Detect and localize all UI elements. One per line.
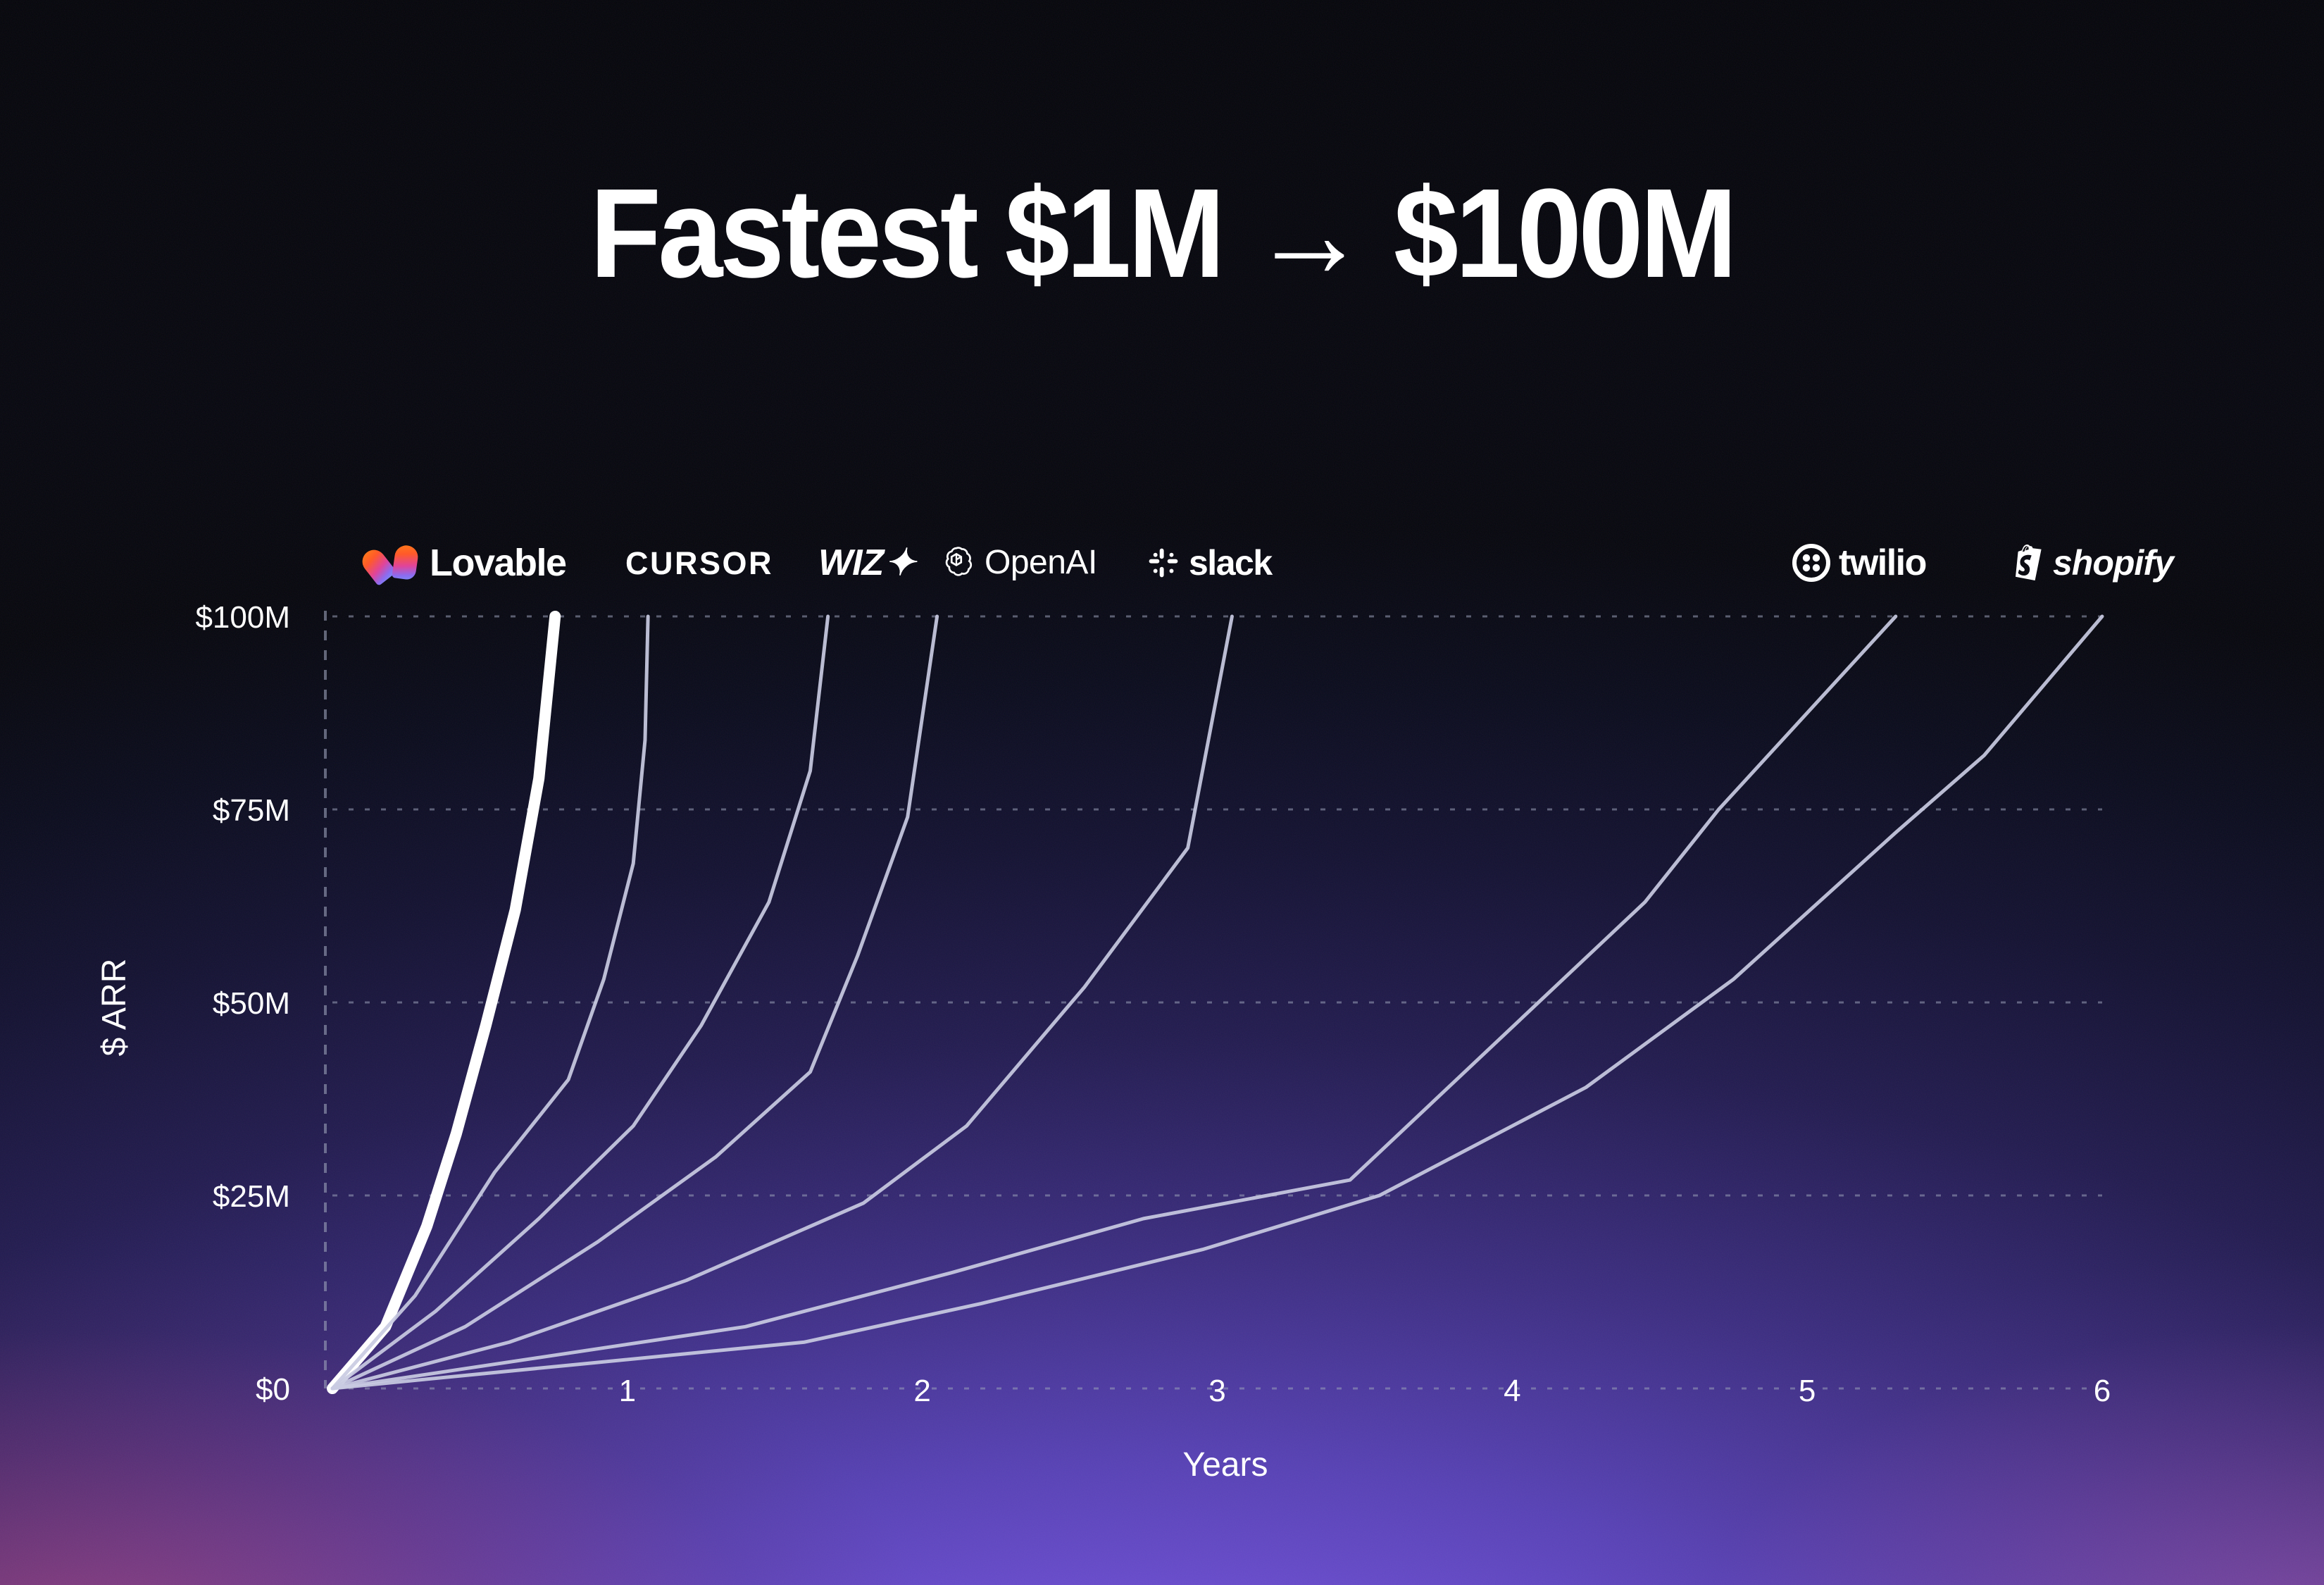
y-tick-label: $50M bbox=[213, 986, 290, 1021]
x-tick-label: 6 bbox=[2094, 1374, 2111, 1408]
series-line-shopify bbox=[332, 616, 2102, 1388]
x-tick-label: 5 bbox=[1799, 1374, 1816, 1408]
chart-y-tick-labels: $0$25M$50M$75M$100M bbox=[195, 600, 290, 1407]
x-axis-title: Years bbox=[1183, 1446, 1268, 1484]
y-axis-title: $ ARR bbox=[96, 959, 133, 1057]
y-tick-label: $0 bbox=[256, 1372, 290, 1407]
arr-growth-line-chart: $0$25M$50M$75M$100M 123456 $ ARR Years bbox=[0, 0, 2324, 1585]
x-tick-label: 1 bbox=[619, 1374, 636, 1408]
chart-x-tick-labels: 123456 bbox=[619, 1374, 2111, 1408]
series-line-openai bbox=[332, 616, 937, 1388]
x-tick-label: 2 bbox=[913, 1374, 930, 1408]
chart-gridlines bbox=[332, 616, 2102, 1388]
x-tick-label: 3 bbox=[1208, 1374, 1225, 1408]
y-tick-label: $100M bbox=[195, 600, 290, 635]
chart-series-lines bbox=[332, 616, 2102, 1388]
y-tick-label: $25M bbox=[213, 1179, 290, 1214]
x-tick-label: 4 bbox=[1504, 1374, 1520, 1408]
y-tick-label: $75M bbox=[213, 793, 290, 828]
